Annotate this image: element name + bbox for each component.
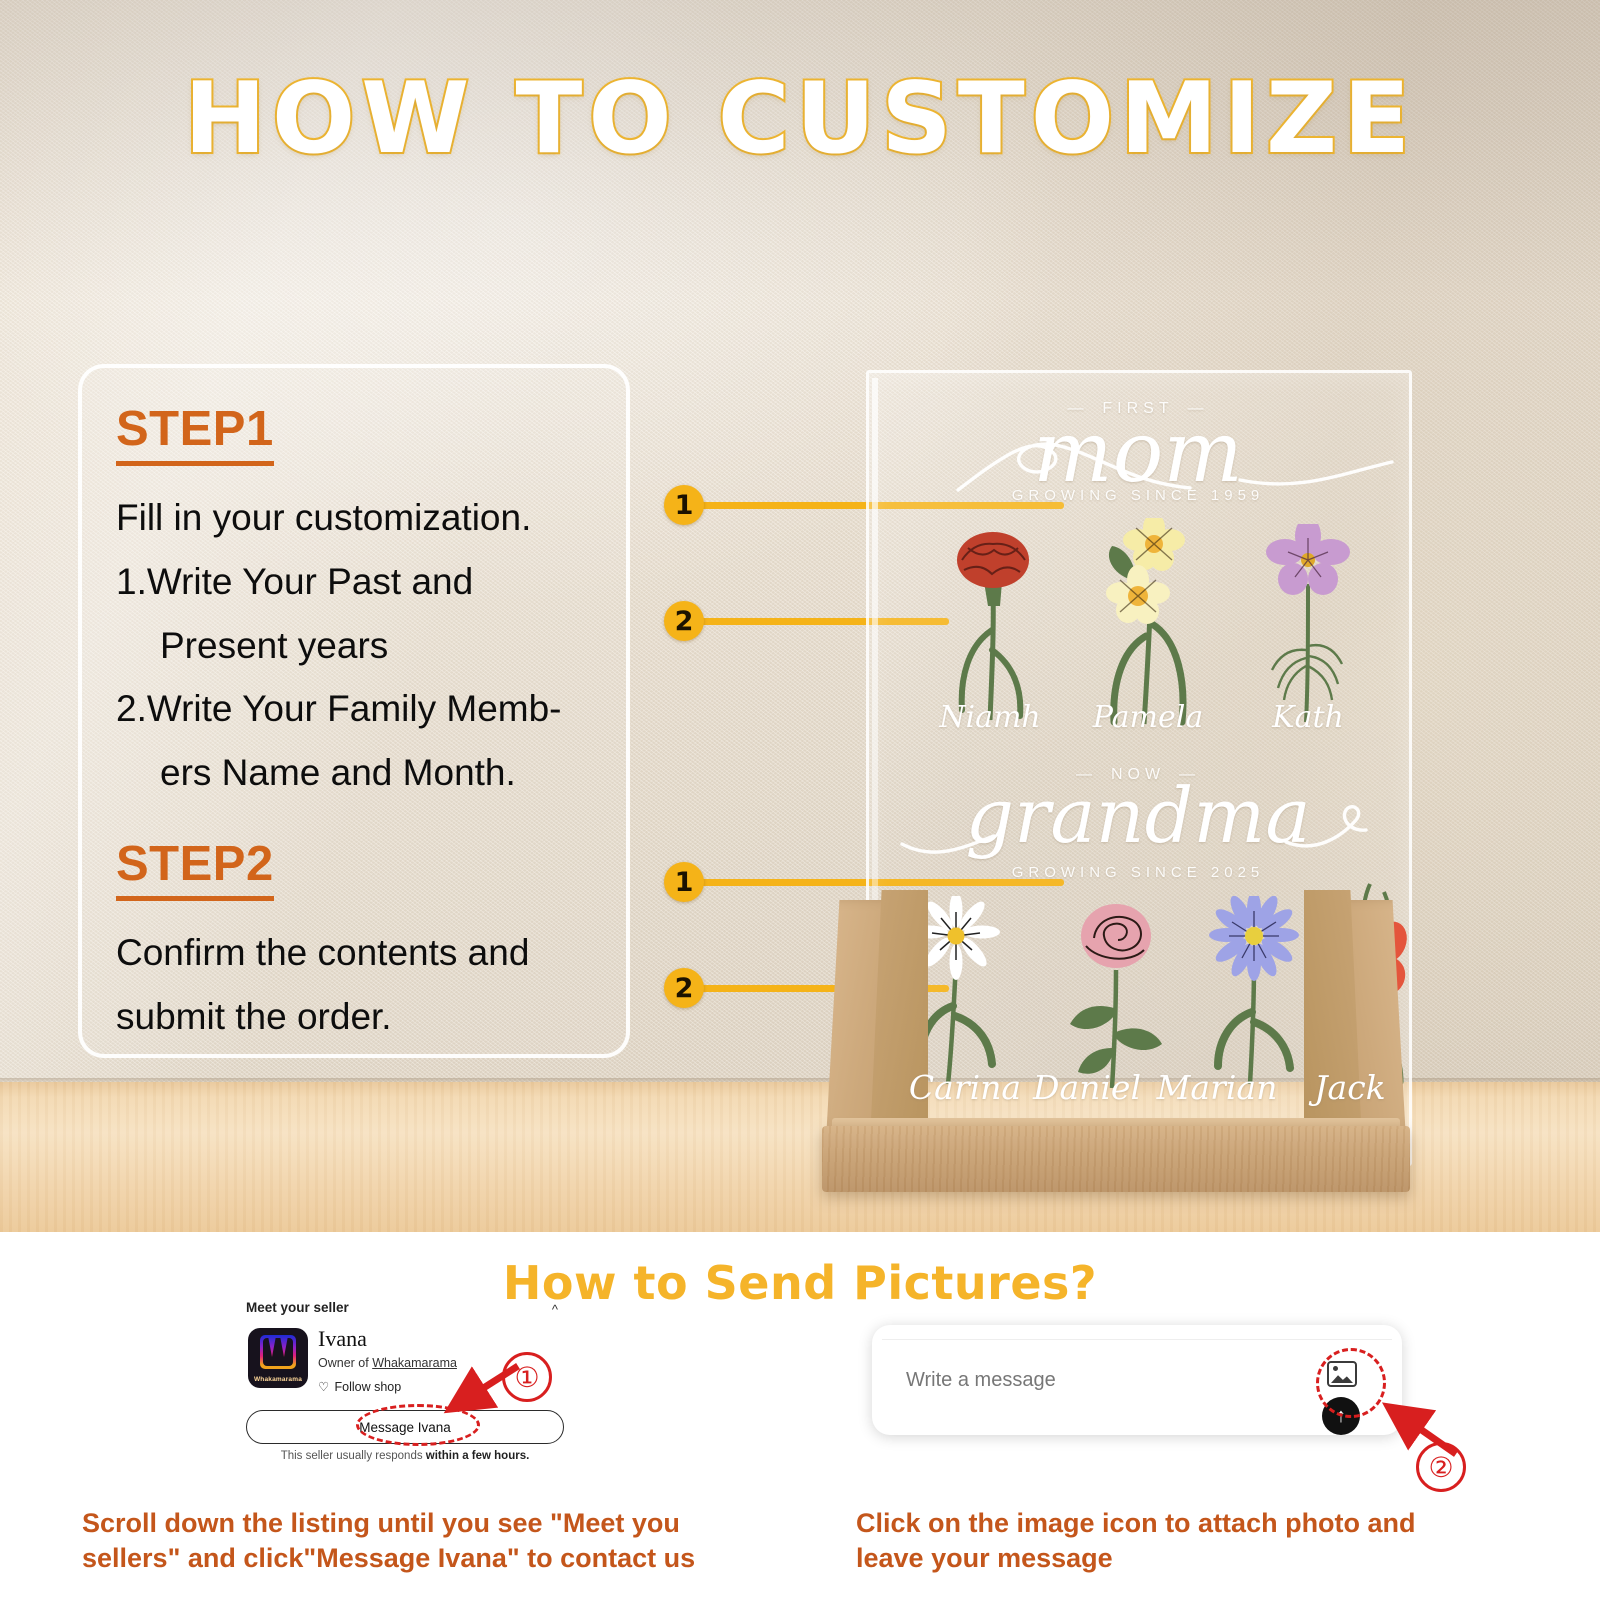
mom-flourish (900, 418, 1400, 498)
shop-logo-caption: Whakamarama (248, 1376, 308, 1383)
caption-right: Click on the image icon to attach photo … (856, 1506, 1466, 1575)
steps-card: STEP1 Fill in your customization. 1.Writ… (78, 364, 630, 1058)
step1-line-1: Fill in your customization. (116, 486, 592, 550)
page-title: HOW TO CUSTOMIZE (0, 62, 1600, 176)
stand-base (822, 1126, 1410, 1192)
meet-your-seller-heading: Meet your seller (246, 1300, 566, 1315)
shop-owner-line: Owner of Whakamarama (318, 1356, 457, 1370)
send-pictures-title: How to Send Pictures? (0, 1256, 1600, 1310)
callout-badge: 2 (664, 968, 704, 1008)
chevron-up-icon[interactable]: ^ (552, 1302, 558, 1317)
step1-line-5: ers Name and Month. (116, 741, 592, 805)
flower-cosmos (1248, 524, 1368, 724)
row1-name-2: Pamela (1078, 700, 1218, 735)
step1-line-2: 1.Write Your Past and (116, 550, 592, 614)
step1-label: STEP1 (116, 404, 274, 466)
follow-shop-label: Follow shop (334, 1380, 401, 1394)
follow-shop-row[interactable]: ♡ Follow shop (318, 1379, 401, 1394)
row1-name-1: Niamh (920, 700, 1060, 735)
image-icon-highlight-circle (1316, 1348, 1386, 1418)
row2-name-4: Jack (1280, 1068, 1420, 1107)
flower-aster (1196, 896, 1311, 1086)
owner-of-prefix: Owner of (318, 1356, 372, 1370)
callout-badge: 2 (664, 601, 704, 641)
step1-line-3: Present years (116, 614, 592, 678)
shop-avatar[interactable]: Whakamarama (248, 1328, 308, 1388)
step2-line-1: Confirm the contents and (116, 921, 592, 985)
annotation-marker-1: ① (502, 1352, 552, 1402)
heart-icon: ♡ (318, 1379, 331, 1394)
step1-body: Fill in your customization. 1.Write Your… (116, 486, 592, 804)
step2-body: Confirm the contents and submit the orde… (116, 921, 592, 1048)
row2-name-3: Marian (1142, 1068, 1292, 1107)
step2-label: STEP2 (116, 839, 274, 901)
mom-since: GROWING SINCE 1959 (988, 487, 1288, 504)
page-root: HOW TO CUSTOMIZE STEP1 Fill in your cust… (0, 0, 1600, 1600)
compose-divider (882, 1339, 1392, 1340)
seller-name: Ivana (318, 1326, 367, 1352)
response-duration: within a few hours. (426, 1450, 530, 1462)
callout-badge: 1 (664, 862, 704, 902)
shop-logo-cut (263, 1338, 293, 1366)
row1-name-3: Kath (1238, 700, 1378, 735)
message-input[interactable]: Write a message (906, 1369, 1056, 1392)
flower-rose (1050, 898, 1180, 1090)
grandma-flourish (890, 796, 1390, 866)
grandma-since: GROWING SINCE 2025 (988, 864, 1288, 881)
step1-line-4: 2.Write Your Family Memb- (116, 677, 592, 741)
flower-daffodil (1082, 518, 1212, 730)
flower-carnation (938, 520, 1048, 730)
response-prefix: This seller usually responds (281, 1450, 426, 1462)
product-scene: HOW TO CUSTOMIZE STEP1 Fill in your cust… (0, 0, 1600, 1232)
step2-line-2: submit the order. (116, 985, 592, 1049)
callout-badge: 1 (664, 485, 704, 525)
seller-response-time: This seller usually responds within a fe… (246, 1450, 564, 1462)
caption-left: Scroll down the listing until you see "M… (82, 1506, 742, 1575)
annotation-marker-2: ② (1416, 1442, 1466, 1492)
row2-name-2: Daniel (1012, 1068, 1162, 1107)
